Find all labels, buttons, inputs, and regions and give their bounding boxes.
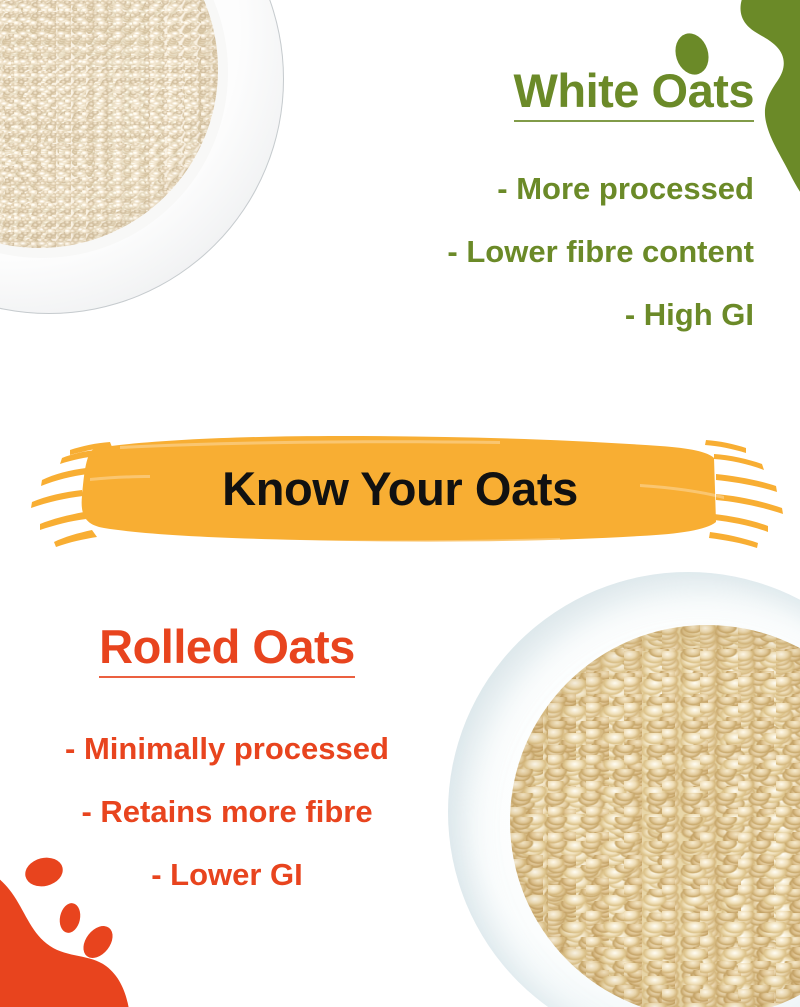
white-oats-bullet-1: - More processed [334,173,754,204]
know-your-oats-banner: Know Your Oats [0,424,800,552]
white-oats-section: White Oats - More processed - Lower fibr… [334,66,754,330]
white-oats-bullet-2: - Lower fibre content [334,236,754,267]
rolled-oats-bullet-list: - Minimally processed - Retains more fib… [8,733,446,890]
white-oats-bullet-3: - High GI [334,299,754,330]
white-oat-flakes [0,0,218,248]
white-bowl [448,572,800,1007]
rolled-oats-heading: Rolled Oats [99,622,355,672]
white-oats-photo [0,0,312,412]
white-plate [0,0,284,314]
white-oats-bullet-list: - More processed - Lower fibre content -… [334,173,754,330]
white-oats-heading-underline [514,120,754,122]
rolled-oats-bullet-3: - Lower GI [8,859,446,890]
rolled-oats-bullet-1: - Minimally processed [8,733,446,764]
white-oats-heading-wrap: White Oats [514,66,754,130]
banner-title: Know Your Oats [0,424,800,552]
rolled-oats-bullet-2: - Retains more fibre [8,796,446,827]
rolled-oats-photo [430,560,800,1007]
rolled-oats-heading-wrap: Rolled Oats [99,622,355,686]
bowl-inner-shadow [448,572,800,1007]
white-oats-heading: White Oats [514,66,754,116]
rolled-oats-heading-underline [99,676,355,678]
infographic-canvas: White Oats - More processed - Lower fibr… [0,0,800,1007]
rolled-oats-section: Rolled Oats - Minimally processed - Reta… [8,622,446,890]
